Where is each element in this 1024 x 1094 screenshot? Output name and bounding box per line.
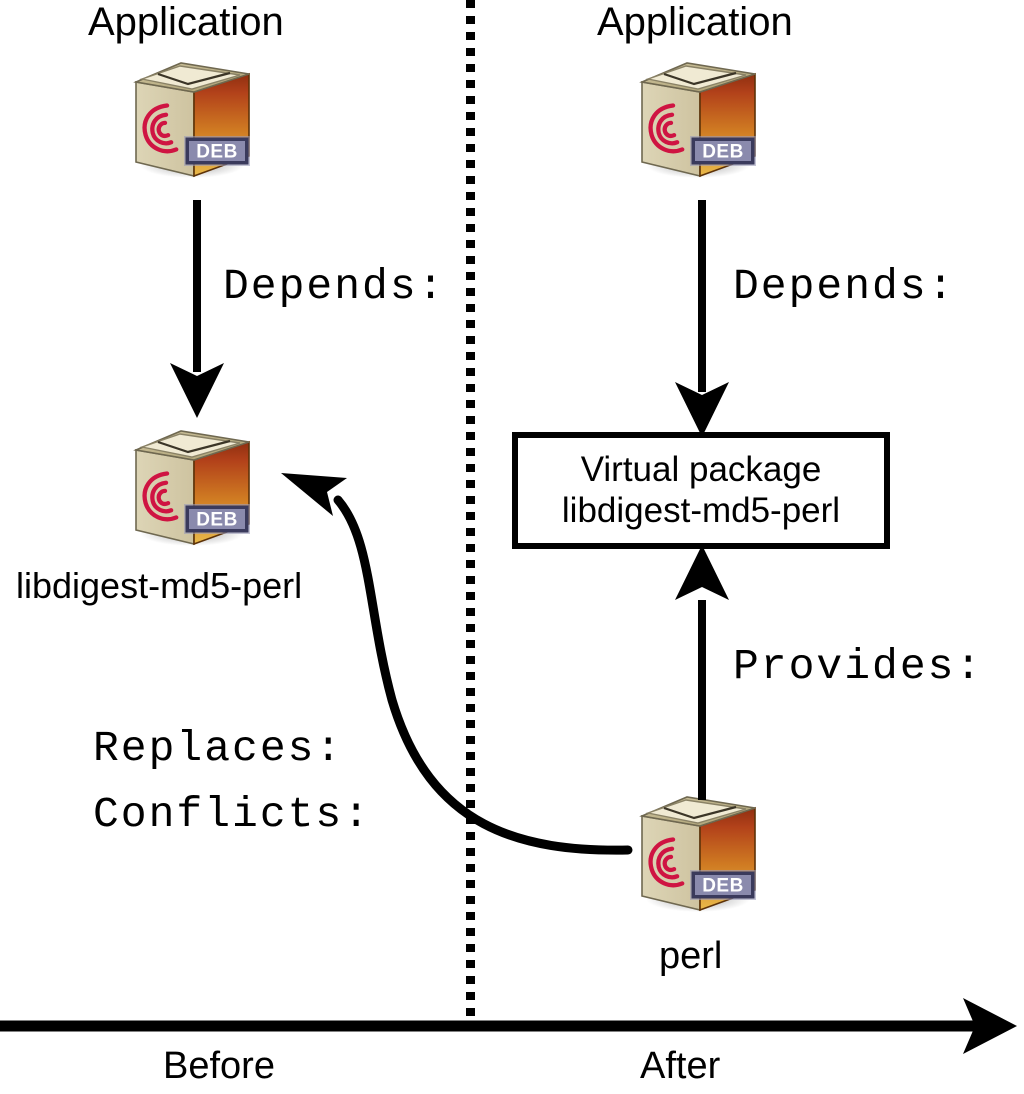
before-depends-arrow-icon [170, 200, 224, 418]
after-provider-package-caption: perl [659, 937, 722, 975]
before-application-package-icon [118, 52, 268, 180]
after-depends-label: Depends: [733, 265, 955, 308]
before-depends-label: Depends: [223, 265, 445, 308]
after-provider-package-icon [624, 786, 774, 914]
virtual-package-line2: libdigest-md5-perl [562, 491, 840, 532]
before-dependency-package-icon [118, 420, 268, 548]
timeline-before-label: Before [163, 1047, 275, 1085]
after-application-package-icon [624, 52, 774, 180]
virtual-package-line1: Virtual package [581, 450, 822, 491]
replaces-label: Replaces: [93, 727, 343, 770]
conflicts-label: Conflicts: [93, 793, 371, 836]
before-application-title: Application [88, 2, 284, 42]
provides-label: Provides: [733, 645, 983, 688]
virtual-package-box: Virtual package libdigest-md5-perl [512, 432, 890, 549]
timeline-after-label: After [640, 1047, 720, 1085]
timeline-axis-arrow-icon [0, 998, 1017, 1054]
debian-virtual-package-diagram: DEB Application Application libdigest-md… [0, 0, 1024, 1094]
after-application-title: Application [597, 2, 793, 42]
provides-arrow-icon [675, 545, 729, 800]
vertical-dotted-divider-icon [466, 0, 475, 1027]
after-depends-arrow-icon [675, 200, 729, 437]
before-dependency-package-caption: libdigest-md5-perl [16, 568, 302, 604]
